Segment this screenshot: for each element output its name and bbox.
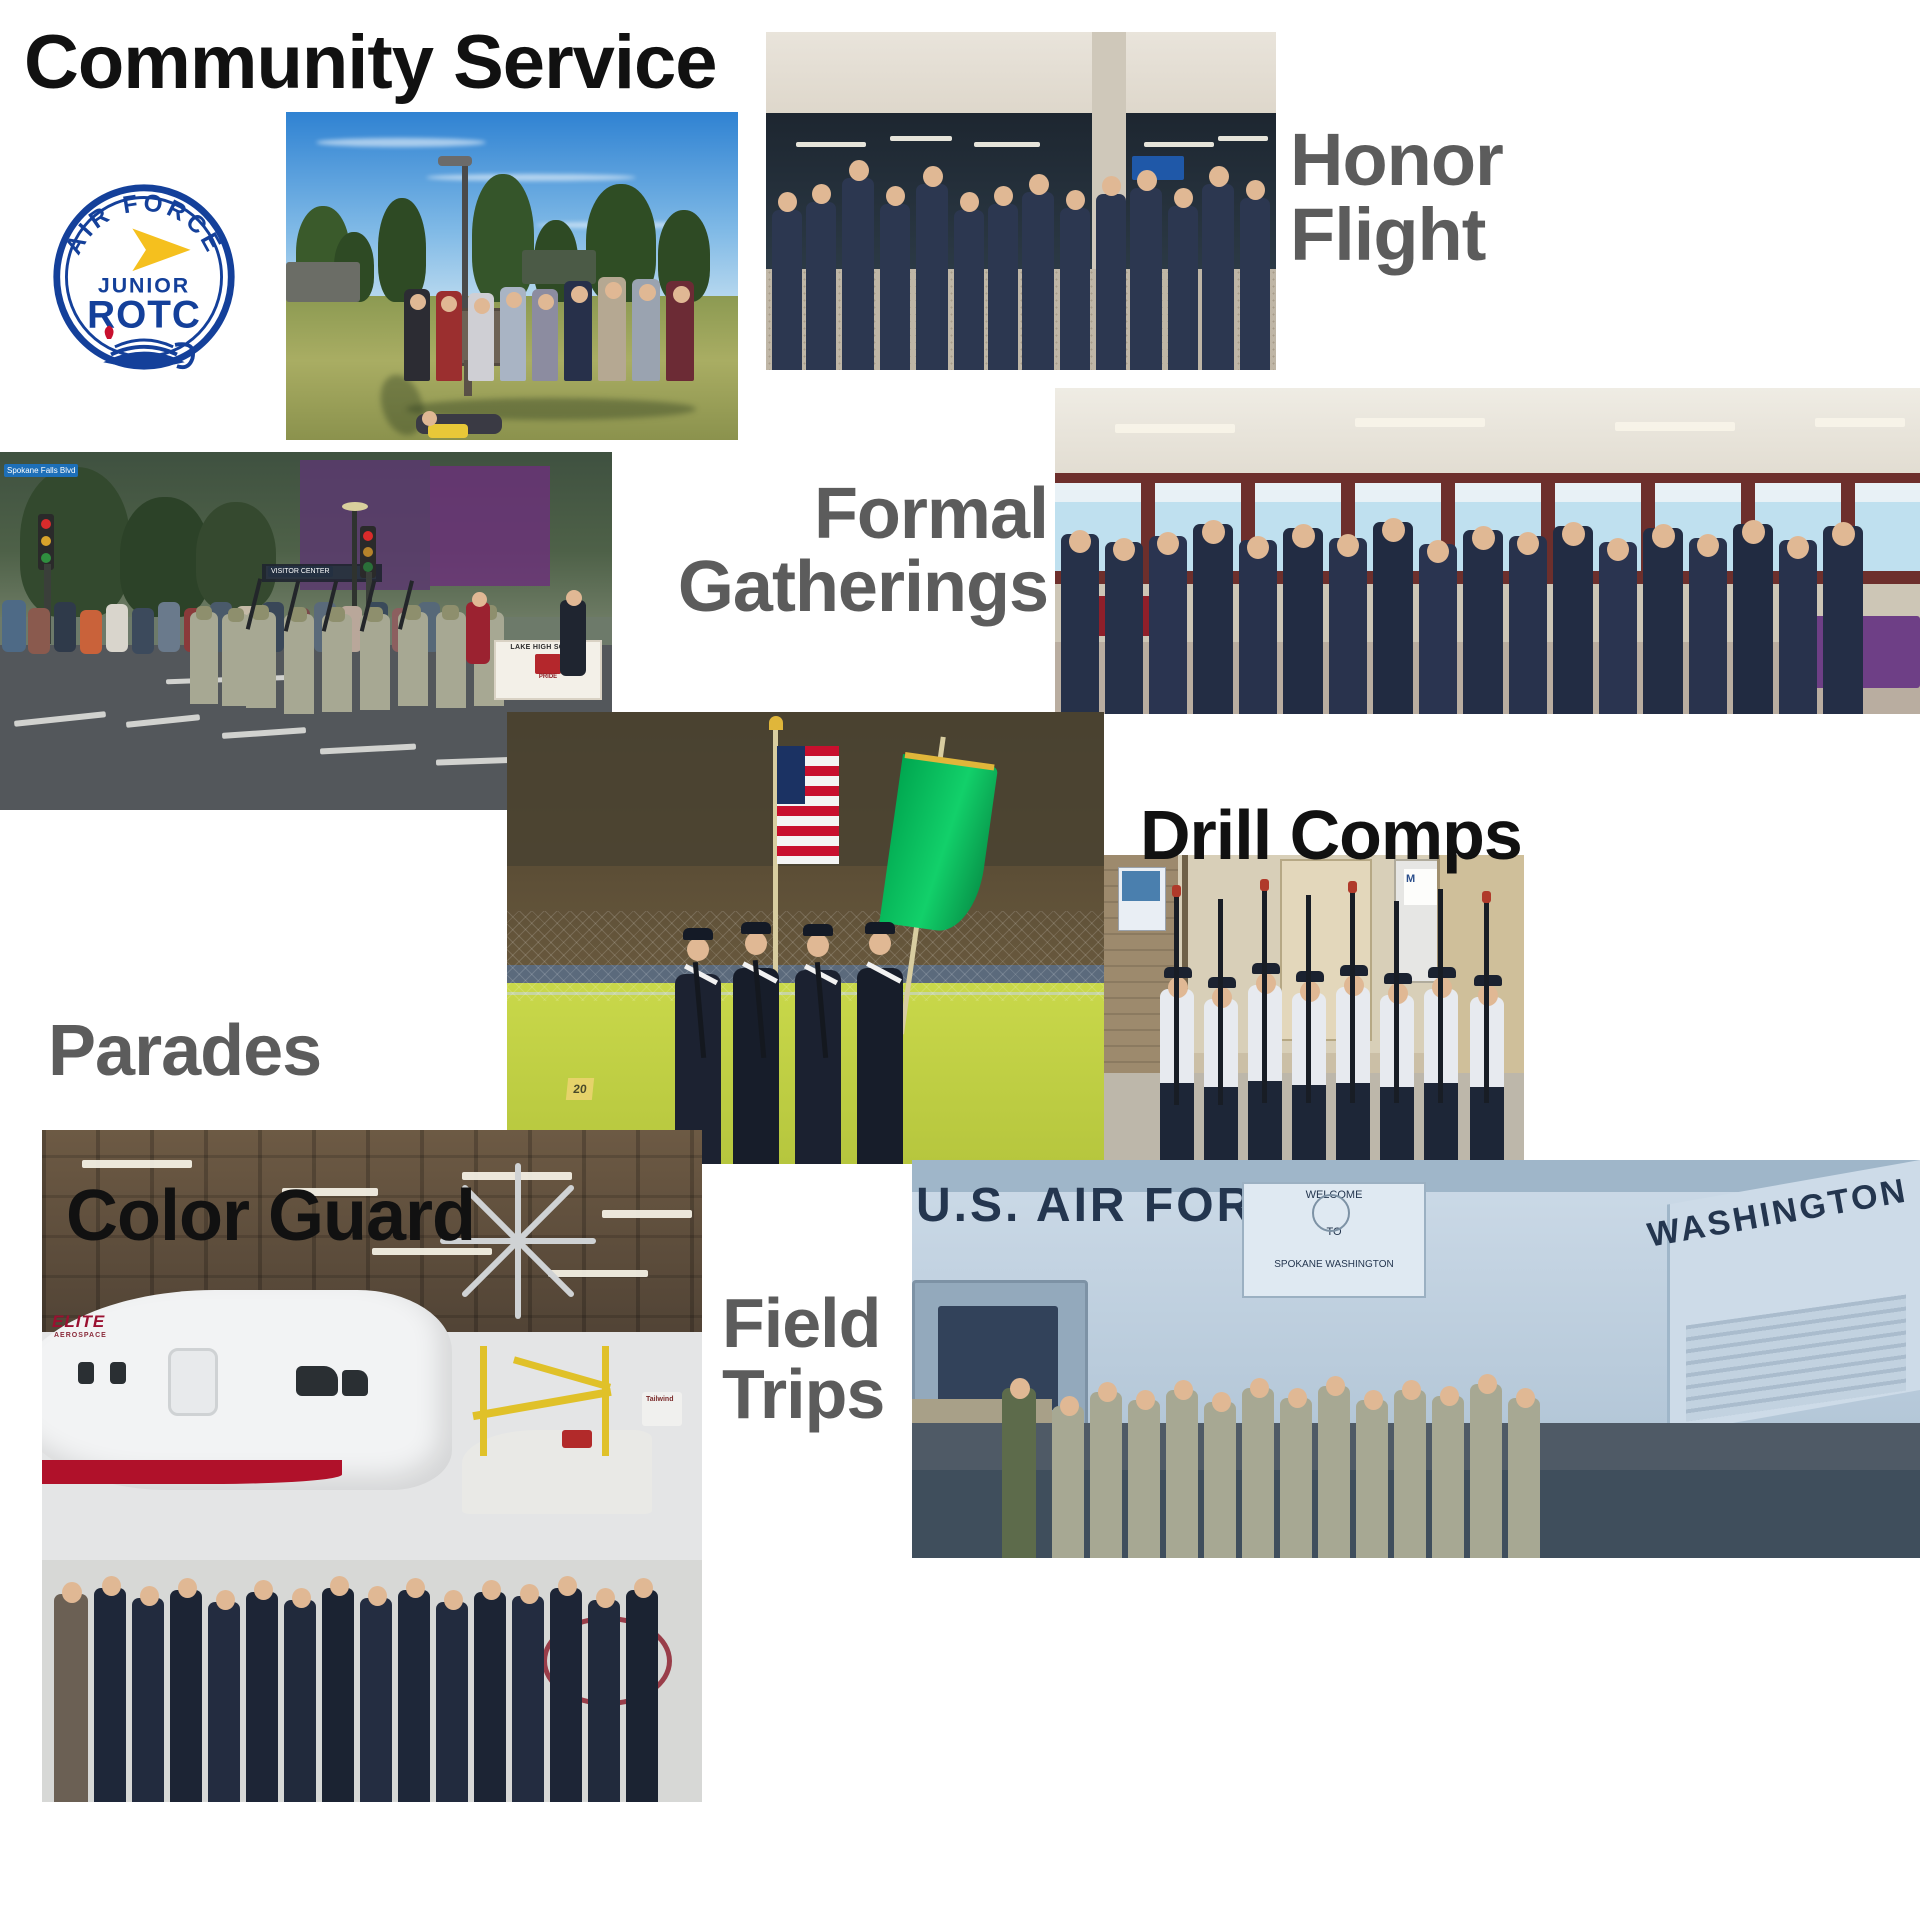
visitor-center-sign: VISITOR CENTER	[268, 566, 333, 577]
photo-formal-gatherings	[1055, 388, 1920, 714]
label-parades: Parades	[48, 1015, 321, 1088]
photo-honor-flight	[766, 32, 1276, 370]
street-sign-label: Spokane Falls Blvd	[4, 464, 78, 477]
label-color-guard: Color Guard	[66, 1180, 475, 1253]
photo-color-guard: 20 10	[507, 712, 1104, 1164]
jet-logo-text: ELITE	[52, 1312, 105, 1332]
label-field-trips: Field Trips	[722, 1288, 902, 1431]
poster-canvas: Community Service Honor Flight Formal Ga…	[0, 0, 1920, 1920]
label-community-service: Community Service	[24, 24, 717, 102]
svg-text:ROTC: ROTC	[87, 293, 201, 336]
label-honor-flight: Honor Flight	[1290, 122, 1890, 273]
label-drill-comps: Drill Comps	[1140, 800, 1522, 871]
photo-field-trip: U.S. AIR FORCE WELCOME TO SPOKANE WASHIN…	[912, 1160, 1920, 1558]
jet-logo-subtext: AEROSPACE	[54, 1332, 107, 1339]
plane-welcome-line-3: SPOKANE WASHINGTON	[1246, 1258, 1422, 1272]
label-formal-gatherings: Formal Gatherings	[618, 478, 1048, 625]
photo-drill-comps: M	[1104, 855, 1524, 1175]
parade-banner-subtext: PRIDE	[496, 674, 600, 680]
afjrotc-logo-icon: AIR FORCE JUNIOR ROTC	[46, 182, 242, 372]
photo-community-service	[286, 112, 738, 440]
yard-marker-20: 20	[566, 1078, 594, 1100]
